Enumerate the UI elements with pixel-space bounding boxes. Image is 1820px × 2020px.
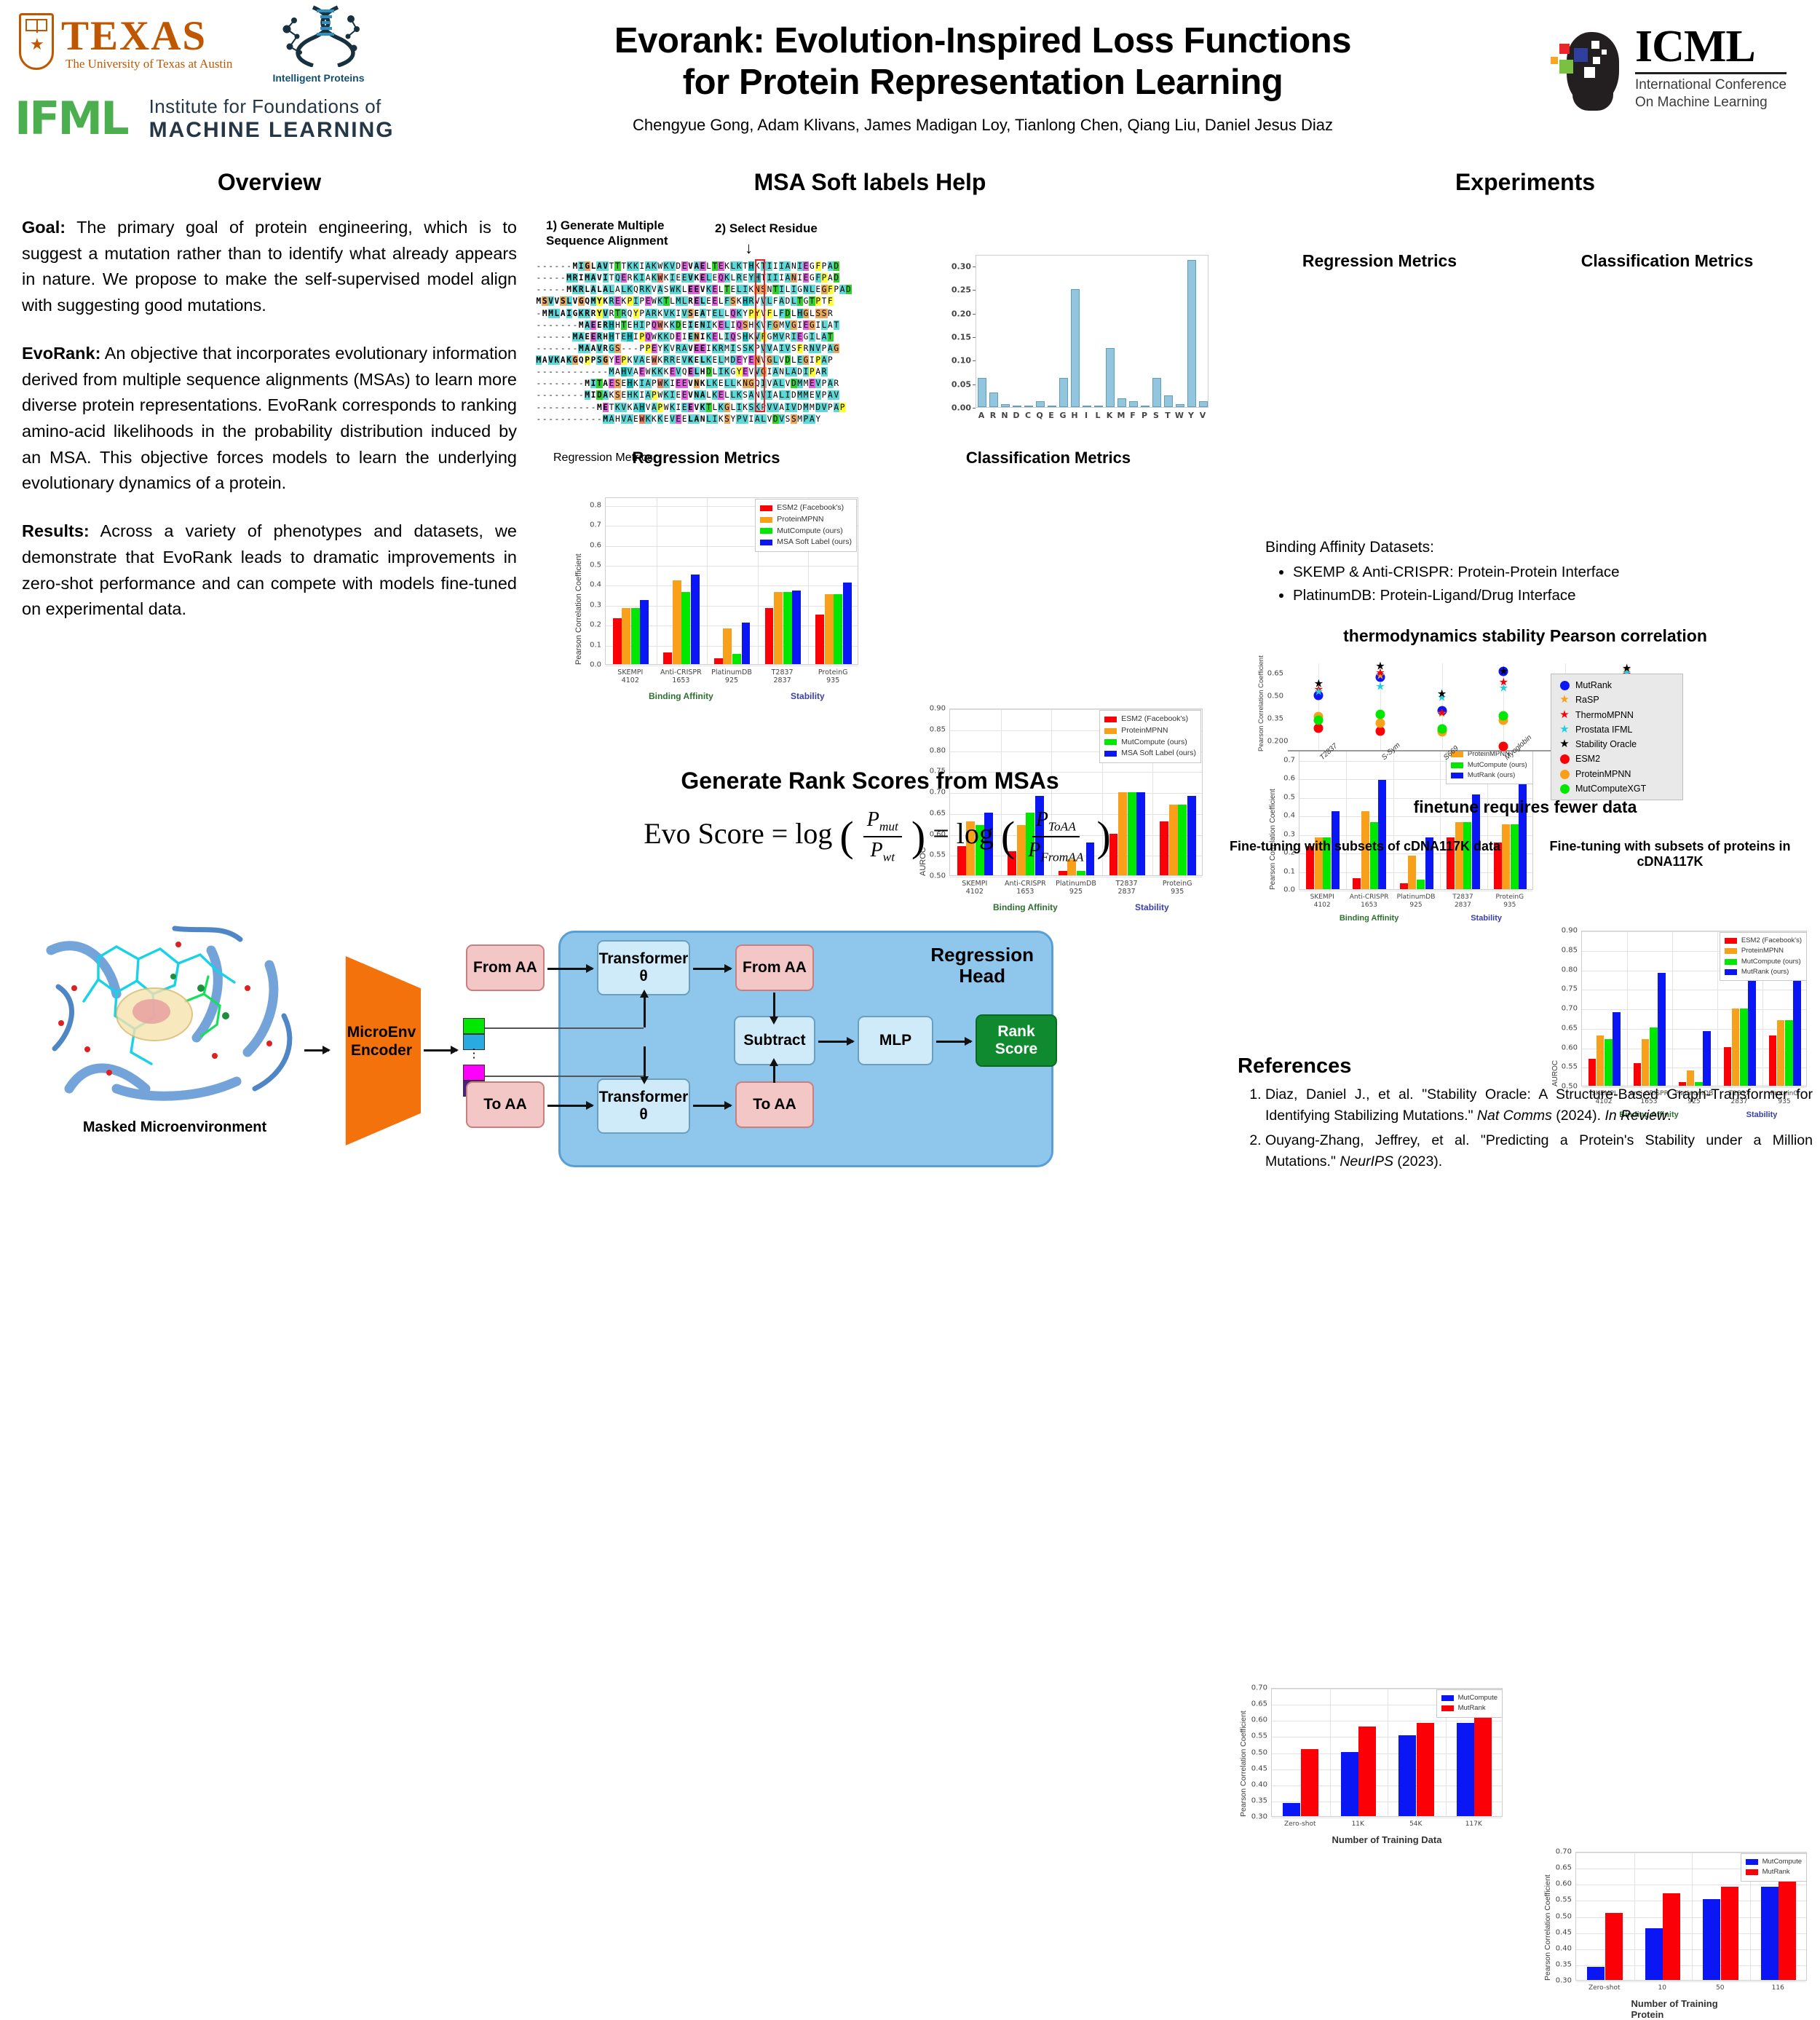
f2-num-sub: ToAA (1048, 820, 1076, 834)
x-axis-tick: 11K (1352, 1820, 1364, 1828)
finetune-section-title: finetune requires fewer data (1238, 797, 1813, 817)
gridline (1576, 1885, 1806, 1885)
legend-item: ProteinMPNN (760, 514, 852, 526)
data-point (1499, 711, 1508, 720)
gridline (1582, 990, 1806, 990)
legend-swatch (1104, 728, 1117, 734)
y-axis-tick: 0.45 (1556, 1928, 1572, 1936)
legend-item: ★Prostata IFML (1556, 722, 1677, 737)
legend-item: ESM2 (Facebook's) (1104, 714, 1196, 725)
gridline (1299, 891, 1532, 891)
bar (774, 592, 783, 664)
x-axis-tick: ProteinG 935 (1163, 880, 1192, 896)
legend-item: MutCompute (1746, 1857, 1802, 1867)
y-axis-label: Pearson Correlation Coefficient (574, 553, 583, 665)
msa-section-title: MSA Soft labels Help (524, 169, 1216, 196)
legend-item: MutComputeXGT (1556, 781, 1677, 796)
bar (1779, 1880, 1796, 1980)
x-axis-tick: G (1059, 411, 1066, 420)
legend-item: ProteinMPNN (1556, 767, 1677, 781)
poster-title-line2: for Protein Representation Learning (437, 62, 1529, 103)
ut-austin-logo: ★ TEXAS The University of Texas at Austi… (16, 6, 256, 82)
legend-marker: ★ (1556, 722, 1572, 737)
axis-group-label: Stability (1135, 902, 1169, 912)
legend-label: MutRank (1575, 678, 1612, 693)
bar (1301, 1749, 1318, 1816)
y-axis-tick: 0.70 (1251, 1684, 1267, 1692)
tick-mark (973, 384, 976, 385)
legend-label: MutRank (ours) (1741, 967, 1789, 977)
data-point (1376, 719, 1385, 728)
gridline (1330, 1689, 1331, 1816)
references-block: References Diaz, Daniel J., et al. "Stab… (1238, 1054, 1813, 1175)
x-axis-tick: W (1175, 411, 1184, 420)
x-axis-tick: T2837 2837 (1452, 893, 1473, 910)
gridline (707, 498, 708, 664)
gridline (1388, 1689, 1388, 1816)
y-axis-tick: 0.60 (1556, 1880, 1572, 1888)
x-axis-tick: T (1165, 411, 1171, 420)
x-axis-tick: ProteinG 935 (818, 668, 848, 685)
msa-row: MSVVSLVGQMYKREKPIPEWKTLMLRELEELFSKHRVVLF… (536, 296, 852, 307)
embedding-to-transformer-bottom-arrow (644, 1046, 646, 1077)
bar (1059, 378, 1068, 407)
author-list: Chengyue Gong, Adam Klivans, James Madig… (437, 116, 1529, 135)
gridline (1692, 1853, 1693, 1980)
reference-venue: NeurIPS (1340, 1153, 1393, 1169)
regression-head-label: Regression Head (930, 944, 1034, 987)
aa-distribution-chart: 0.000.050.100.150.200.250.30ARNDCQEGHILK… (939, 248, 1216, 430)
data-point (1314, 724, 1324, 733)
to-aa-output-box: To AA (735, 1081, 814, 1128)
x-axis-label: Number of Training Protein (1631, 1998, 1752, 2020)
data-point (1499, 741, 1508, 751)
y-axis-label: Pearson Correlation Coefficient (1257, 655, 1265, 751)
transformer-top-box: Transformer θ (597, 940, 690, 995)
references-list: Diaz, Daniel J., et al. "Stability Oracl… (1238, 1084, 1813, 1172)
y-axis-tick: 0.65 (1251, 1700, 1267, 1708)
bar (732, 654, 741, 664)
bar (742, 623, 751, 665)
bar (1077, 871, 1085, 875)
legend-swatch (1104, 717, 1117, 722)
y-axis-tick: 0.30 (1251, 1813, 1267, 1821)
y-axis-tick: 0.65 (1556, 1864, 1572, 1872)
legend-swatch (760, 540, 772, 545)
legend-item: ProteinMPNN (1104, 725, 1196, 737)
formula-fraction-2: PToAA PFromAA (1024, 808, 1087, 864)
legend-swatch (1725, 948, 1737, 954)
legend-item: MutCompute (ours) (1104, 737, 1196, 749)
chart-legend: ESM2 (Facebook's)ProteinMPNNMutCompute (… (1720, 932, 1807, 981)
msa-step1-label: 1) Generate Multiple Sequence Alignment (546, 218, 668, 248)
bar (1587, 1967, 1605, 1980)
paren-open-1: ( (839, 824, 853, 850)
legend-swatch (760, 505, 772, 511)
data-point: ★ (1499, 666, 1508, 677)
from-aa-to-transformer-arrow (547, 968, 593, 970)
bar (1358, 1727, 1376, 1816)
bar (1117, 398, 1126, 407)
axis-group-label: Binding Affinity (993, 902, 1058, 912)
microenv-encoder-label: MicroEnv Encoder (344, 1023, 419, 1060)
legend-item: ESM2 (1556, 751, 1677, 766)
goal-text: The primary goal of protein engineering,… (22, 218, 517, 315)
legend-label: ProteinMPNN (1741, 946, 1784, 956)
legend-item: ESM2 (Facebook's) (1725, 936, 1802, 946)
legend-label: MutCompute (ours) (1741, 957, 1801, 967)
formula-lhs: Evo Score (644, 817, 764, 850)
chart-legend: ESM2 (Facebook's)ProteinMPNNMutCompute (… (1099, 710, 1201, 763)
bar (1400, 883, 1408, 889)
x-axis-tick: 117K (1465, 1820, 1482, 1828)
f2-den: P (1028, 839, 1040, 861)
encoder-output-arrow (424, 1049, 457, 1052)
x-axis-tick: PlatinumDB 925 (1397, 893, 1436, 910)
legend-swatch (1104, 739, 1117, 745)
legend-swatch (1725, 938, 1737, 944)
to-aa-to-subtract-arrow (773, 1065, 775, 1083)
results-text: Across a variety of phenotypes and datas… (22, 521, 517, 618)
legend-label: ESM2 (Facebook's) (1121, 714, 1188, 725)
y-axis-tick: 0.50 (1556, 1912, 1572, 1920)
y-axis-tick: 0.2 (590, 621, 601, 629)
bar (815, 615, 824, 664)
legend-marker (1556, 767, 1572, 781)
bar (1457, 1723, 1474, 1816)
msa-classification-title: Classification Metrics (895, 449, 1201, 467)
msa-row: ------------MAHVAEWKKKEVQELHDLIKGYEVVGIA… (536, 366, 852, 378)
gridline (1272, 1818, 1502, 1818)
plot-area (976, 255, 1208, 408)
legend-item: MutCompute (ours) (1725, 957, 1802, 967)
x-axis-tick: D (1013, 411, 1019, 420)
bar (1129, 401, 1138, 407)
bar (1141, 406, 1150, 407)
legend-label: MutComputeXGT (1575, 781, 1646, 796)
y-axis-tick: 0.50 (1267, 693, 1283, 701)
bar (640, 600, 649, 664)
chart-legend: MutComputeMutRank (1741, 1853, 1807, 1882)
legend-label: MutRank (1762, 1867, 1790, 1877)
y-axis-tick: 0.3 (1283, 830, 1295, 838)
protein-figure-caption: Masked Microenvironment (29, 1119, 320, 1136)
legend-item: MutRank (1441, 1703, 1497, 1713)
legend-label: MutCompute (1762, 1857, 1802, 1867)
results-paragraph: Results: Across a variety of phenotypes … (22, 518, 517, 623)
bar (663, 652, 672, 664)
x-axis-tick: S (1153, 411, 1159, 420)
legend-label: ThermoMPNN (1575, 708, 1634, 722)
icml-word: ICML (1635, 24, 1787, 69)
finetune-data-chart-title: Fine-tuning with subsets of cDNA117K dat… (1223, 839, 1507, 854)
legend-label: MutCompute (ours) (1121, 737, 1187, 749)
y-axis-tick: 0.8 (590, 501, 601, 509)
msa-step2-label: 2) Select Residue (715, 221, 818, 236)
x-axis-tick: 10 (1658, 1984, 1666, 1992)
x-axis-tick: Anti-CRISPR 1653 (1005, 880, 1046, 896)
subtract-to-mlp-arrow (818, 1041, 853, 1043)
data-point: ★ (1375, 681, 1385, 692)
data-point (1376, 709, 1385, 719)
y-axis-tick: 0.4 (590, 581, 601, 589)
y-axis-tick: 0.1 (590, 641, 601, 649)
msa-regression-chart: 0.00.10.20.30.40.50.60.70.8SKEMPI 4102An… (571, 492, 863, 703)
legend-label: RaSP (1575, 693, 1599, 707)
x-axis-tick: Zero-shot (1588, 1984, 1621, 1992)
x-axis-tick: SKEMPI 4102 (1310, 893, 1334, 910)
bar (1398, 1735, 1416, 1816)
bar (681, 592, 690, 664)
f2-num: P (1036, 808, 1048, 831)
bar (1370, 822, 1378, 889)
legend-marker (1556, 751, 1572, 766)
legend-label: Prostata IFML (1575, 722, 1633, 737)
y-axis-tick: 0.40 (1251, 1780, 1267, 1788)
bar (1176, 404, 1184, 407)
x-axis-label: Number of Training Data (1332, 1834, 1442, 1845)
bar (1001, 404, 1010, 407)
reference-status: In Review (1605, 1108, 1667, 1124)
bar (1071, 289, 1080, 407)
y-axis-tick: 0.35 (1556, 1960, 1572, 1968)
icml-divider (1635, 72, 1787, 74)
selected-residue-highlight (755, 259, 765, 412)
x-axis-tick: N (1001, 411, 1008, 420)
f1-den-sub: wt (883, 850, 895, 864)
legend-marker: ★ (1556, 737, 1572, 751)
y-axis-tick: 0.55 (1251, 1732, 1267, 1740)
bar (792, 591, 801, 664)
binding-datasets-heading: Binding Affinity Datasets: (1265, 539, 1798, 556)
x-axis-tick: Y (1188, 411, 1194, 420)
x-axis-tick: 54K (1409, 1820, 1422, 1828)
msa-column: MSA Soft labels Help (524, 169, 1216, 206)
bar (1463, 822, 1471, 889)
reference-year: (2024). (1552, 1108, 1605, 1124)
goal-paragraph: Goal: The primary goal of protein engine… (22, 215, 517, 319)
legend-label: MutCompute (ours) (777, 526, 842, 537)
axis-group-label: Stability (791, 691, 825, 701)
x-axis-tick: 50 (1716, 1984, 1724, 1992)
legend-label: ProteinMPNN (1121, 725, 1168, 737)
bar (1283, 1803, 1300, 1816)
y-axis-tick: 0.45 (1251, 1764, 1267, 1772)
legend-item: MutRank (1556, 678, 1677, 693)
x-axis-tick: SKEMPI 4102 (962, 880, 987, 896)
bar (1059, 871, 1067, 875)
bar (1341, 1752, 1358, 1816)
y-axis-tick: 0.05 (951, 379, 971, 389)
bar (723, 628, 732, 664)
legend-swatch (1746, 1869, 1758, 1875)
msa-row: ------MIGLAVTTTKKIAKWKVDEVAELTEKLKTHKTII… (536, 261, 852, 272)
gridline (606, 585, 858, 586)
y-axis-tick: 0.15 (951, 333, 971, 342)
y-axis-tick: 0.90 (930, 705, 946, 713)
poster-header: ★ TEXAS The University of Texas at Austi… (0, 0, 1820, 157)
x-axis-tick: ProteinG 935 (1496, 893, 1524, 910)
x-axis-tick: SKEMPI 4102 (617, 668, 643, 685)
y-axis-tick: 0.35 (1251, 1796, 1267, 1804)
bar (978, 378, 986, 407)
msa-row: -MMLAIGKRRYVRTRQYPARKVKIVSEATELLQKYPYVFL… (536, 308, 852, 320)
msa-regression-title: Regression Metrics (553, 449, 859, 467)
rank-score-box: Rank Score (976, 1014, 1057, 1067)
bar (714, 658, 723, 664)
formula-equals-2: = (933, 817, 949, 850)
y-axis-tick: 0.7 (590, 521, 601, 529)
overview-column: Overview Goal: The primary goal of prote… (22, 169, 517, 644)
data-point (1376, 727, 1385, 736)
bar (783, 592, 792, 664)
experiments-section-title: Experiments (1238, 169, 1813, 196)
msa-row: --------MITAESEHKIAPWKIEEVNKLKELLKNGQIVA… (536, 378, 852, 390)
y-axis-tick: 0.30 (1556, 1977, 1572, 1985)
bar (1455, 822, 1463, 889)
legend-item: ★Stability Oracle (1556, 737, 1677, 751)
overview-section-title: Overview (22, 169, 517, 196)
x-axis-tick: V (1200, 411, 1206, 420)
icml-tagline2: On Machine Learning (1635, 94, 1787, 111)
bar (989, 392, 998, 407)
bar (1474, 1716, 1492, 1816)
y-axis-tick: 0.50 (1251, 1748, 1267, 1756)
formula-log-2: log (957, 817, 994, 850)
bar (843, 583, 852, 664)
goal-label: Goal: (22, 218, 66, 237)
results-label: Results: (22, 521, 90, 540)
y-axis-tick: 0.85 (930, 725, 946, 733)
ifml-line2: MACHINE LEARNING (149, 118, 395, 143)
data-point: ★ (1437, 707, 1447, 718)
bar (1645, 1928, 1663, 1980)
bar (1187, 260, 1196, 407)
ut-wordmark: TEXAS (61, 17, 232, 56)
x-axis-tick: M (1117, 411, 1125, 420)
data-point: ★ (1622, 663, 1631, 674)
bar (1164, 395, 1173, 407)
exp-regression-caption: Regression Metrics (1238, 251, 1522, 271)
y-axis-tick: 0.90 (1562, 927, 1578, 935)
legend-swatch (1104, 751, 1117, 757)
microenv-encoder-block: MicroEnv Encoder (333, 956, 421, 1145)
reference-year: (2023). (1393, 1153, 1442, 1169)
icml-tagline1: International Conference (1635, 76, 1787, 93)
y-axis-tick: 0.5 (590, 561, 601, 569)
legend-label: ESM2 (Facebook's) (1741, 936, 1802, 946)
poster-title-line1: Evorank: Evolution-Inspired Loss Functio… (437, 20, 1529, 62)
y-axis-tick: 0.80 (930, 746, 946, 754)
title-block: Evorank: Evolution-Inspired Loss Functio… (437, 20, 1529, 135)
formula-equals-1: = (772, 817, 788, 850)
legend-label: MSA Soft Label (ours) (1121, 748, 1196, 760)
paren-open-2: ( (1001, 824, 1015, 850)
paren-close-2: ) (1096, 824, 1110, 850)
reference-item: Diaz, Daniel J., et al. "Stability Oracl… (1265, 1084, 1813, 1127)
data-point: ★ (1375, 661, 1385, 672)
msa-row: -------MAEERHHTEHIPQWKKDEIENIKELIQSHKVFG… (536, 320, 852, 331)
masked-microenvironment-figure: Masked Microenvironment (29, 907, 320, 1147)
legend-item: MSA Soft Label (ours) (1104, 748, 1196, 760)
legend-label: ESM2 (1575, 751, 1600, 766)
legend-label: MutRank (1458, 1703, 1486, 1713)
embedding-cell-magenta (463, 1065, 485, 1081)
msa-alignment-block: ------MIGLAVTTTKKIAKWKVDEVAELTEKLKTHKTII… (536, 261, 852, 425)
icml-head-icon (1551, 25, 1629, 111)
bar (1013, 406, 1021, 407)
tick-mark (973, 337, 976, 338)
select-residue-arrow-icon: ↓ (745, 240, 753, 256)
x-axis-tick: T2837 2837 (772, 668, 794, 685)
legend-item: MSA Soft Label (ours) (760, 537, 852, 548)
bar (1199, 401, 1208, 407)
bar (1703, 1899, 1720, 1980)
mlp-to-rank-arrow (936, 1041, 971, 1043)
bar (1094, 406, 1103, 407)
legend-marker: ★ (1556, 693, 1572, 707)
embedding-cell-green (463, 1018, 485, 1034)
y-axis-tick: 0.40 (1556, 1944, 1572, 1952)
texas-shield-icon: ★ (16, 12, 58, 77)
to-aa-to-transformer-arrow (547, 1105, 593, 1107)
f2-den-sub: FromAA (1040, 850, 1083, 864)
gridline (950, 877, 1202, 877)
from-aa-to-subtract-arrow (773, 993, 775, 1017)
bar (1152, 378, 1161, 407)
formula-fraction-1: Pmut Pwt (863, 808, 902, 864)
bar (1378, 780, 1386, 889)
gridline (1318, 663, 1319, 750)
evo-score-formula: Evo Score = log ( Pmut Pwt ) = log ( PTo… (553, 808, 1201, 864)
to-aa-input-box: To AA (466, 1081, 545, 1128)
from-aa-output-box: From AA (735, 944, 814, 991)
x-axis-tick: T2837 2837 (1116, 880, 1138, 896)
paren-close-1: ) (911, 824, 925, 850)
y-axis-tick: 0.35 (1267, 714, 1283, 722)
gridline (606, 566, 858, 567)
x-axis-tick: Anti-CRISPR 1653 (1350, 893, 1389, 910)
reference-item: Ouyang-Zhang, Jeffrey, et al. "Predictin… (1265, 1130, 1813, 1173)
axis-group-label: Stability (1471, 914, 1502, 923)
y-axis-tick: 0.85 (1562, 946, 1578, 954)
y-axis-label: Pearson Correlation Coefficient (1543, 1874, 1552, 1981)
y-axis-label: Pearson Correlation Coefficient (1239, 1711, 1248, 1817)
bar (673, 580, 681, 664)
bar (1502, 824, 1510, 889)
bar (1605, 1913, 1623, 1980)
legend-swatch (760, 517, 772, 523)
legend-item: ProteinMPNN (1725, 946, 1802, 956)
bar (1106, 348, 1115, 407)
legend-swatch (1725, 969, 1737, 975)
tick-mark (973, 408, 976, 409)
y-axis-tick: 0.1 (1283, 867, 1295, 875)
y-axis-tick: 0.20 (951, 309, 971, 318)
x-axis-tick: Q (1036, 411, 1042, 420)
y-axis-tick: 0.75 (1562, 985, 1578, 993)
x-axis-tick: R (990, 411, 996, 420)
x-axis-tick: P (1142, 411, 1147, 420)
input-arrow (304, 1049, 329, 1052)
legend-swatch (1441, 1695, 1454, 1701)
msa-row: --------MIDAKSEHKIAPWKIEEVNALKELLKSANVIA… (536, 390, 852, 401)
legend-item: ★RaSP (1556, 693, 1677, 707)
transformer-top-output-arrow (693, 968, 731, 970)
y-axis-tick: 0.00 (951, 403, 971, 413)
bar (1048, 406, 1056, 407)
dna-helix-icon (275, 4, 363, 67)
